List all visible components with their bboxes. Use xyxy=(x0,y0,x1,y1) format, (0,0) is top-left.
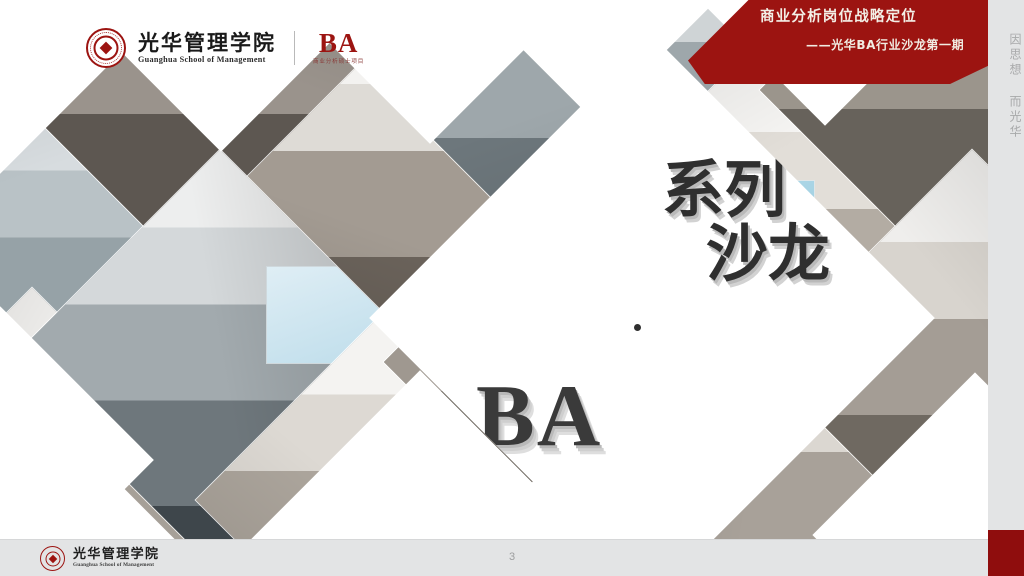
vertical-divider-icon xyxy=(294,31,295,65)
footer-school-name-en: Guanghua School of Management xyxy=(73,563,159,568)
program-mark: BA 商业分析硕士项目 xyxy=(313,30,364,66)
school-name-cn: 光华管理学院 xyxy=(138,32,276,54)
right-side-panel: 因思想 而光华 xyxy=(988,0,1024,540)
footer-accent-block xyxy=(988,530,1024,576)
peking-university-seal-icon xyxy=(86,28,126,68)
slide-footer: 光华管理学院 Guanghua School of Management 3 xyxy=(0,540,1024,576)
program-mark-sub: 商业分析硕士项目 xyxy=(313,60,364,66)
middle-dot-icon xyxy=(634,324,641,331)
school-name-en: Guanghua School of Management xyxy=(138,56,276,65)
hero-cn-line2: 沙龙 xyxy=(706,222,830,286)
footer-divider xyxy=(0,539,988,540)
page-title: 商业分析岗位战略定位 xyxy=(760,5,1010,26)
school-name-block: 光华管理学院 Guanghua School of Management xyxy=(138,32,276,65)
slogan-vertical-text: 因思想 而光华 xyxy=(988,26,1024,146)
title-banner: 商业分析岗位战略定位 ——光华BA行业沙龙第一期 xyxy=(688,0,1024,84)
header-logo-lockup: 光华管理学院 Guanghua School of Management BA … xyxy=(86,28,364,68)
presentation-slide: BA 系列 沙龙 商业分析岗位战略定位 ——光华BA行业沙龙第一期 光华管理学院… xyxy=(0,0,1024,576)
page-number: 3 xyxy=(0,551,1024,563)
program-mark-text: BA xyxy=(319,30,359,57)
